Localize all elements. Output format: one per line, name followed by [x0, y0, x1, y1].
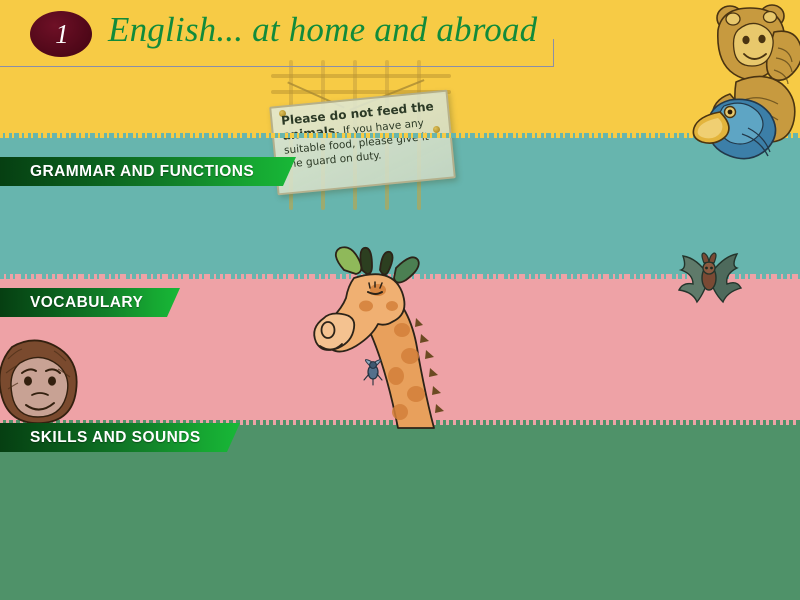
giraffe-illustration [296, 244, 446, 429]
section-banner-skills[interactable]: SKILLS AND SOUNDS [0, 423, 240, 452]
section-banner-vocabulary[interactable]: VOCABULARY [0, 288, 180, 317]
unit-opener-page: Please do not feed the animals. If you h… [0, 0, 800, 600]
unit-number: 1 [30, 11, 92, 57]
section-banner-vocabulary-label: VOCABULARY [30, 294, 143, 312]
parrot-illustration [690, 90, 782, 162]
section-banner-grammar[interactable]: GRAMMAR AND FUNCTIONS [0, 157, 296, 186]
unit-number-badge: 1 [30, 11, 92, 57]
header-rule-vertical [553, 39, 554, 67]
zoo-sign-illustration: Please do not feed the animals. If you h… [255, 60, 470, 220]
torn-edge-yellow-teal [0, 133, 800, 138]
section-banner-skills-label: SKILLS AND SOUNDS [30, 429, 201, 447]
section-banner-grammar-label: GRAMMAR AND FUNCTIONS [30, 163, 254, 181]
header-rule-horizontal [0, 66, 554, 67]
fly-illustration [358, 358, 388, 386]
fence-rail-icon [271, 74, 451, 78]
gorilla-illustration [0, 333, 82, 425]
page-title: English... at home and abroad [108, 10, 537, 50]
bat-illustration [676, 248, 742, 306]
